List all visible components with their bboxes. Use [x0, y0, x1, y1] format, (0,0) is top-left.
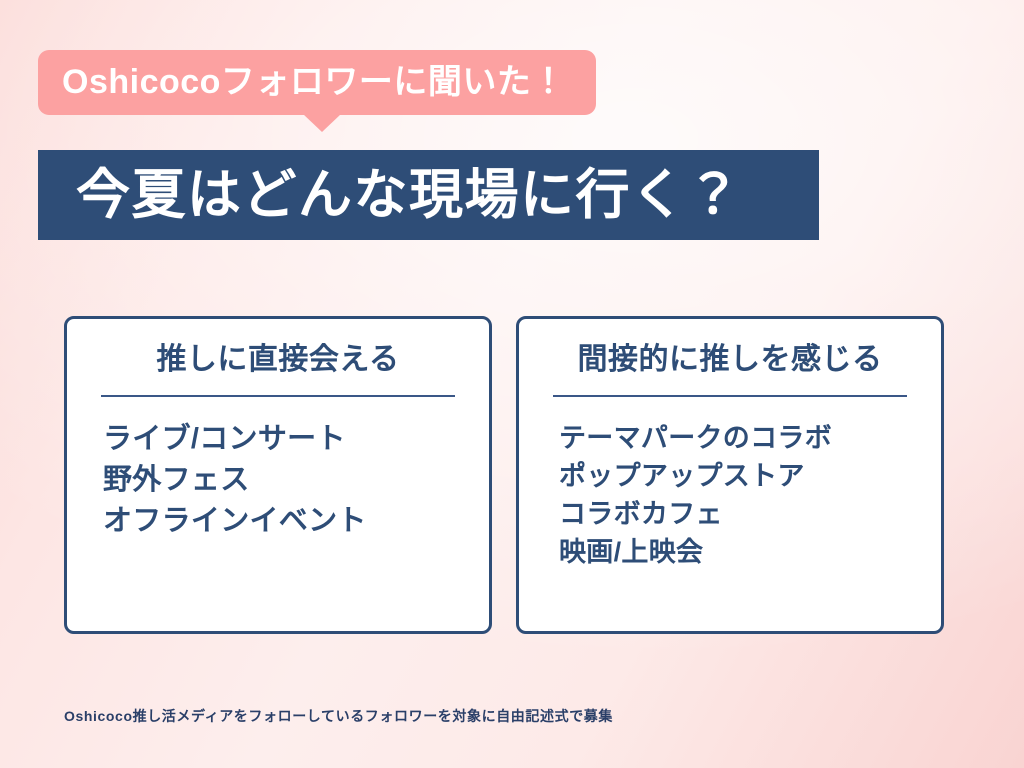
- list-item: オフラインイベント: [103, 501, 463, 542]
- list-item: ポップアップストア: [559, 457, 915, 495]
- page-title: 今夏はどんな現場に行く？: [38, 167, 742, 224]
- callout-bubble: Oshicocoフォロワーに聞いた！: [38, 50, 596, 115]
- callout-text: Oshicocoフォロワーに聞いた！: [62, 63, 566, 101]
- callout-pointer-icon: [303, 114, 341, 132]
- card-direct-meeting: 推しに直接会える ライブ/コンサート 野外フェス オフラインイベント: [64, 316, 492, 634]
- card-item-list: テーマパークのコラボ ポップアップストア コラボカフェ 映画/上映会: [545, 419, 915, 572]
- card-heading: 間接的に推しを感じる: [545, 341, 915, 395]
- list-item: テーマパークのコラボ: [559, 419, 915, 457]
- card-group: 推しに直接会える ライブ/コンサート 野外フェス オフラインイベント 間接的に推…: [64, 316, 944, 634]
- card-item-list: ライブ/コンサート 野外フェス オフラインイベント: [93, 419, 463, 543]
- slide-canvas: Oshicocoフォロワーに聞いた！ 今夏はどんな現場に行く？ 推しに直接会える…: [0, 0, 1024, 768]
- callout-banner: Oshicocoフォロワーに聞いた！: [38, 50, 596, 115]
- survey-footnote: Oshicoco推し活メディアをフォローしているフォロワーを対象に自由記述式で募…: [64, 706, 613, 726]
- list-item: ライブ/コンサート: [103, 419, 463, 460]
- list-item: コラボカフェ: [559, 495, 915, 533]
- list-item: 映画/上映会: [559, 533, 915, 571]
- list-item: 野外フェス: [103, 460, 463, 501]
- title-banner: 今夏はどんな現場に行く？: [38, 150, 819, 240]
- card-divider: [553, 395, 907, 397]
- card-indirect-feeling: 間接的に推しを感じる テーマパークのコラボ ポップアップストア コラボカフェ 映…: [516, 316, 944, 634]
- card-divider: [101, 395, 455, 397]
- card-heading: 推しに直接会える: [93, 341, 463, 395]
